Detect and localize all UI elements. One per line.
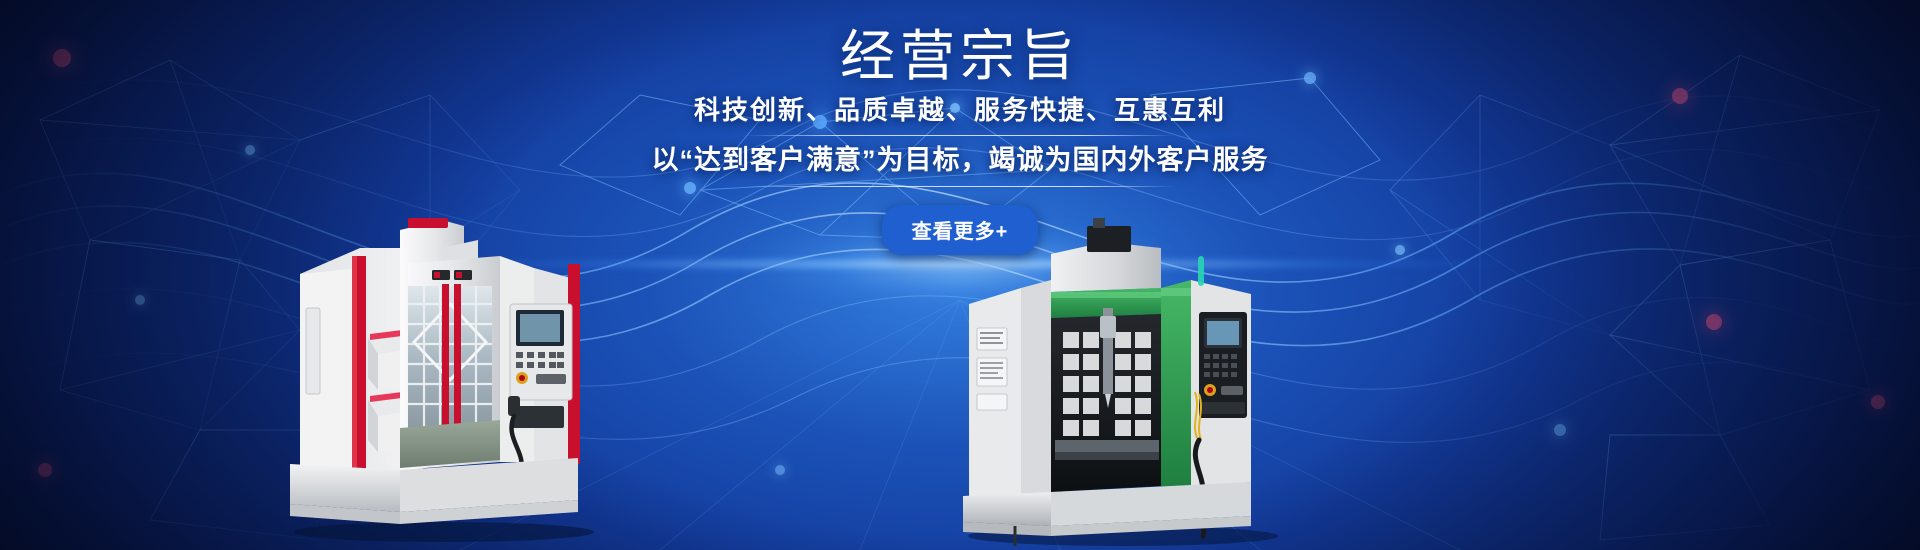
machine-image-left: [282, 212, 602, 542]
divider-top: [745, 135, 1175, 136]
divider-bottom: [745, 186, 1175, 187]
banner-text-block: 经营宗旨 科技创新、品质卓越、服务快捷、互惠互利 以“达到客户满意”为目标，竭诚…: [0, 26, 1920, 255]
banner-tagline: 以“达到客户满意”为目标，竭诚为国内外客户服务: [0, 144, 1920, 178]
banner-subtitle: 科技创新、品质卓越、服务快捷、互惠互利: [0, 94, 1920, 127]
promo-banner: 经营宗旨 科技创新、品质卓越、服务快捷、互惠互利 以“达到客户满意”为目标，竭诚…: [0, 0, 1920, 550]
view-more-button[interactable]: 查看更多+: [882, 205, 1039, 255]
page-title: 经营宗旨: [0, 26, 1920, 88]
